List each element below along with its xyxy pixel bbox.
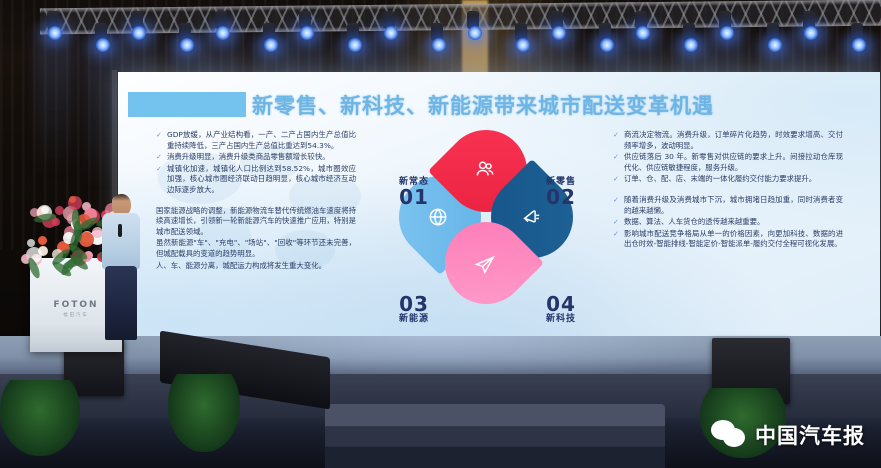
wechat-logo-icon <box>711 420 747 450</box>
petal-number: 03 <box>381 294 447 315</box>
left-paragraph: 人、车、能源分离，城配运力构成将发生重大变化。 <box>156 261 356 272</box>
foliage <box>71 209 81 232</box>
spotlight-icon <box>216 26 230 40</box>
left-bullet: 城镇化加速，城镇化人口比例达到58.52%，城市圈效应加强，核心城市圈经济联动日… <box>156 164 356 196</box>
flower <box>27 239 35 247</box>
spotlight-icon <box>432 38 446 52</box>
watermark: 中国汽车报 <box>711 420 865 450</box>
spotlight-icon <box>852 38 866 52</box>
spotlight-icon <box>720 26 734 40</box>
potted-plant <box>0 380 80 456</box>
paper-plane-icon <box>474 254 496 276</box>
spotlight-icon <box>96 38 110 52</box>
right-text-column: 商流决定物流。消费升级，订单碎片化趋势，时效要求增高、交付频率增多，波动明显。 … <box>613 130 843 251</box>
left-text-column: GDP放缓，从产业结构看，一产、二产占国内生产总值比重持续降低，三产占国内生产总… <box>156 130 356 272</box>
spotlight-icon <box>48 26 62 40</box>
spotlight-icon <box>132 26 146 40</box>
spacer <box>156 197 356 206</box>
spotlight-icon <box>300 26 314 40</box>
slide-content: 新零售、新科技、新能源带来城市配送变革机遇 GDP放缓，从产业结构看，一产、二产… <box>118 72 880 342</box>
left-bullet: 消费升级明显，消费升级类商品零售额增长较快。 <box>156 152 356 163</box>
presenter-trousers <box>105 266 137 340</box>
flower <box>38 236 47 245</box>
spotlight-icon <box>348 38 362 52</box>
right-bullet: 数据、算法、人车货仓的透传越来越重要。 <box>613 217 843 228</box>
petal-caption: 新科技 <box>528 315 594 324</box>
spotlight-icon <box>636 26 650 40</box>
title-accent-bar <box>128 92 246 117</box>
right-bullet: 供应链落后 30 年。新零售对供应链的要求上升。间接拉动仓库现代化、供应链敏捷程… <box>613 152 843 173</box>
right-bullet: 影响城市配送竞争格局从单一的价格因素，向更加科技、数据的进出仓时效-智能排线-智… <box>613 229 843 250</box>
petal-label-01: 新常态 01 <box>381 178 447 208</box>
petal-number: 02 <box>528 187 594 208</box>
right-bullet: 商流决定物流。消费升级，订单碎片化趋势，时效要求增高、交付频率增多，波动明显。 <box>613 130 843 151</box>
petal-number: 04 <box>528 294 594 315</box>
spotlight-icon <box>804 26 818 40</box>
light-beam <box>35 26 75 176</box>
conference-photo: 新零售、新科技、新能源带来城市配送变革机遇 GDP放缓，从产业结构看，一产、二产… <box>0 0 881 468</box>
left-paragraph: 国家能源战略的调整，新能源物流车替代传统燃油车速度将持续高速增长，引领新一轮新能… <box>156 206 356 238</box>
flower <box>69 196 76 203</box>
presenter <box>96 194 144 342</box>
potted-plant <box>168 374 240 452</box>
microphone <box>118 224 122 237</box>
spotlight-icon <box>264 38 278 52</box>
left-bullet: GDP放缓，从产业结构看，一产、二产占国内生产总值比重持续降低，三产占国内生产总… <box>156 130 356 151</box>
presenter-shirt <box>102 213 140 269</box>
left-paragraph: 虽然新能源"车"、"充电"、"场站"、"回收"等环节还未完善，但城配载具的变道的… <box>156 238 356 259</box>
spotlight-icon <box>552 26 566 40</box>
spotlight-icon <box>180 38 194 52</box>
watermark-text: 中国汽车报 <box>755 420 865 450</box>
petal-caption: 新能源 <box>381 315 447 324</box>
megaphone-icon <box>521 206 543 228</box>
globe-icon <box>427 206 449 228</box>
spotlight-icon <box>768 38 782 52</box>
people-icon <box>474 158 496 180</box>
petal-label-04: 04 新科技 <box>528 294 594 324</box>
spotlight-icon <box>516 38 530 52</box>
right-bullet: 随着消费升级及消费城市下沉，城市拥堵日趋加重，同时消费者变的越来越懒。 <box>613 195 843 216</box>
spacer <box>613 186 843 195</box>
four-petal-diagram: 新常态 01 新零售 02 03 新能源 04 新科技 <box>386 118 586 318</box>
petal-label-02: 新零售 02 <box>528 178 594 208</box>
stage-steps <box>325 404 665 468</box>
spotlight-icon <box>684 38 698 52</box>
right-bullet: 订单、仓、配、店、末端的一体化履约交付能力要求提升。 <box>613 174 843 185</box>
spotlight-icon <box>600 38 614 52</box>
petal-label-03: 03 新能源 <box>381 294 447 324</box>
spotlight-icon <box>468 26 482 40</box>
spotlight-icon <box>384 26 398 40</box>
petal-number: 01 <box>381 187 447 208</box>
